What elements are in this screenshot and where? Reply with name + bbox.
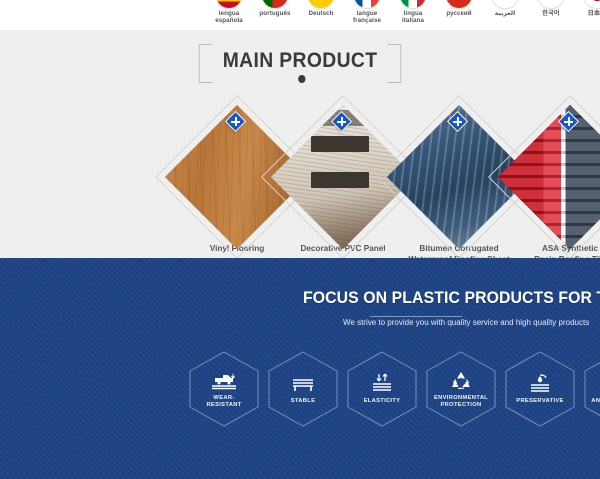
feature-label: STABLE <box>291 398 316 405</box>
landing-page: lengua española português Deutsch langue… <box>0 0 600 479</box>
feature-label: PRESERVATIVE <box>516 398 563 405</box>
language-label: langue française <box>353 11 381 24</box>
feature-preservative[interactable]: PRESERVATIVE <box>503 350 577 428</box>
strength-subtitle: We strive to provide you with quality se… <box>343 318 589 327</box>
main-product-section: MAIN PRODUCT Vinyl Flooring <box>0 30 600 258</box>
language-selector-bar: lengua española português Deutsch langue… <box>0 0 600 30</box>
section-heading-wrap: MAIN PRODUCT <box>0 44 600 81</box>
feature-label: ENVIRONMENTAL PROTECTION <box>434 395 488 409</box>
feature-hexagon-row: WEAR- RESISTANT <box>0 350 600 428</box>
flag-spain-icon <box>216 0 242 8</box>
flag-portugal-icon <box>262 0 288 8</box>
feature-anti-corrosion[interactable]: ANTI-CORROSION <box>582 350 600 428</box>
headline-divider <box>370 316 462 317</box>
feature-environmental-protection[interactable]: ENVIRONMENTAL PROTECTION <box>424 350 498 428</box>
product-diamond[interactable] <box>508 115 600 239</box>
product-grid: Vinyl Flooring Decorative PVC Panel <box>0 115 600 260</box>
language-item-arabic[interactable]: العربية <box>482 0 528 18</box>
water-drop-layers-icon <box>527 373 553 395</box>
recycle-icon <box>449 370 473 392</box>
product-image-roof-tiles <box>498 105 600 249</box>
flag-russia-icon <box>446 0 472 8</box>
language-label: العربية <box>495 11 515 18</box>
language-label: português <box>259 11 290 18</box>
heading-bracket-right <box>387 44 401 83</box>
language-item-german[interactable]: Deutsch <box>298 0 344 18</box>
product-card-asa-resin-roofing-tile[interactable]: ASA Synthetic Resin Roofing Tile <box>508 115 600 270</box>
language-label: 日本語 <box>588 11 600 18</box>
feature-stable[interactable]: STABLE <box>266 350 340 428</box>
up-down-arrows-layers-icon <box>369 373 395 395</box>
flag-italy-icon <box>400 0 426 8</box>
heading-bracket-left <box>199 44 213 83</box>
language-item-spanish[interactable]: lengua española <box>206 0 252 24</box>
language-label: lingua italiana <box>402 11 424 24</box>
company-strength-section: FOCUS ON PLASTIC PRODUCTS FOR THIRTY YEA… <box>0 258 600 479</box>
page-title: MAIN PRODUCT <box>223 49 378 72</box>
language-item-japanese[interactable]: 日本語 <box>574 0 600 18</box>
product-image-clip <box>498 105 600 249</box>
language-label: русский <box>446 11 471 18</box>
feature-label: WEAR- RESISTANT <box>206 395 241 409</box>
flag-germany-icon <box>308 0 334 8</box>
feature-wear-resistant[interactable]: WEAR- RESISTANT <box>187 350 261 428</box>
flag-korea-icon <box>538 0 564 8</box>
language-list: lengua española português Deutsch langue… <box>206 0 600 24</box>
language-label: lengua española <box>215 11 243 24</box>
main-product-heading: MAIN PRODUCT <box>199 44 402 81</box>
flag-japan-icon <box>584 0 600 8</box>
feature-label: ANTI-CORROSION <box>591 398 600 405</box>
flag-arabic-icon <box>492 0 518 8</box>
flag-france-icon <box>354 0 380 8</box>
feature-label: ELASTICITY <box>364 398 401 405</box>
language-item-portuguese[interactable]: português <box>252 0 298 18</box>
language-item-korean[interactable]: 한국어 <box>528 0 574 18</box>
strength-headline: FOCUS ON PLASTIC PRODUCTS FOR THIRTY YEA… <box>303 288 600 308</box>
stacked-table-icon <box>290 373 316 395</box>
language-item-russian[interactable]: русский <box>436 0 482 18</box>
heading-dot <box>296 73 307 85</box>
language-item-french[interactable]: langue française <box>344 0 390 24</box>
language-item-italian[interactable]: lingua italiana <box>390 0 436 24</box>
language-label: Deutsch <box>308 11 333 18</box>
feature-elasticity[interactable]: ELASTICITY <box>345 350 419 428</box>
product-card-bitumen-roofing-sheet[interactable]: Bitumen Corrugated Waterproof Roofing Sh… <box>397 115 521 270</box>
truck-over-layers-icon <box>211 370 237 392</box>
language-label: 한국어 <box>542 11 559 18</box>
